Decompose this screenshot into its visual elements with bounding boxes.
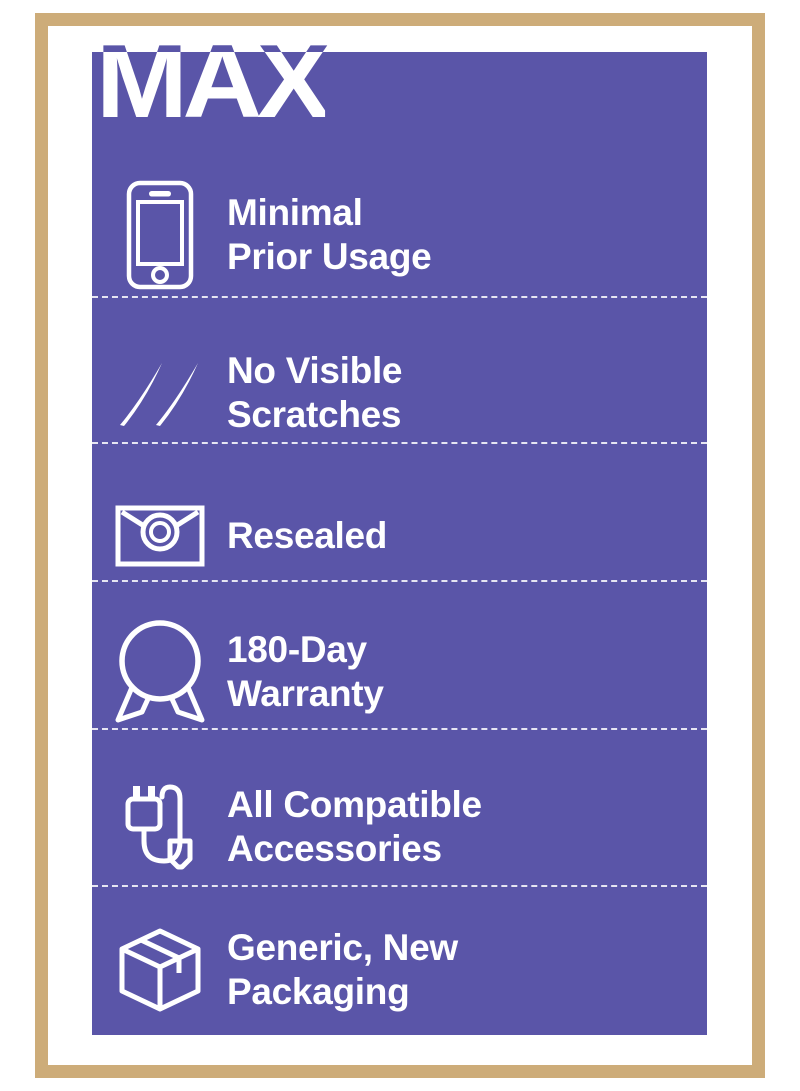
feature-label: Minimal Prior Usage xyxy=(227,191,707,278)
feature-row: No Visible Scratches xyxy=(92,320,707,466)
scratches-icon xyxy=(92,353,227,433)
feature-row: Generic, New Packaging xyxy=(92,900,707,1040)
feature-label-line1: Generic, New xyxy=(227,926,707,970)
feature-label: Resealed xyxy=(227,514,707,558)
row-divider xyxy=(92,728,707,730)
feature-row: 180-Day Warranty xyxy=(92,597,707,747)
feature-label: All Compatible Accessories xyxy=(227,783,707,870)
feature-label-line2: Scratches xyxy=(227,393,707,437)
feature-list: Minimal Prior Usage No Visible Scratches xyxy=(92,52,707,1035)
feature-label-line2: Prior Usage xyxy=(227,235,707,279)
feature-label-line2: Warranty xyxy=(227,672,707,716)
row-divider xyxy=(92,885,707,887)
feature-label-line1: Minimal xyxy=(227,191,707,235)
feature-label-line1: No Visible xyxy=(227,349,707,393)
feature-label-line1: All Compatible xyxy=(227,783,707,827)
feature-label: No Visible Scratches xyxy=(227,349,707,436)
smartphone-icon xyxy=(92,179,227,291)
row-divider xyxy=(92,296,707,298)
feature-label: Generic, New Packaging xyxy=(227,926,707,1013)
row-divider xyxy=(92,580,707,582)
feature-label-line2: Accessories xyxy=(227,827,707,871)
usb-cable-icon xyxy=(92,775,227,879)
feature-row: All Compatible Accessories xyxy=(92,752,707,902)
row-divider xyxy=(92,442,707,444)
award-ribbon-icon xyxy=(92,616,227,728)
shipping-box-icon xyxy=(92,925,227,1015)
poster-root: MAX MAX Minimal Prior Usage xyxy=(0,0,800,1091)
feature-label: 180-Day Warranty xyxy=(227,628,707,715)
sealed-envelope-icon xyxy=(92,502,227,570)
feature-row: Minimal Prior Usage xyxy=(92,160,707,310)
feature-label-line2: Packaging xyxy=(227,970,707,1014)
feature-label-line1: Resealed xyxy=(227,514,707,558)
feature-label-line1: 180-Day xyxy=(227,628,707,672)
brand-wordmark: MAX MAX xyxy=(96,32,325,132)
